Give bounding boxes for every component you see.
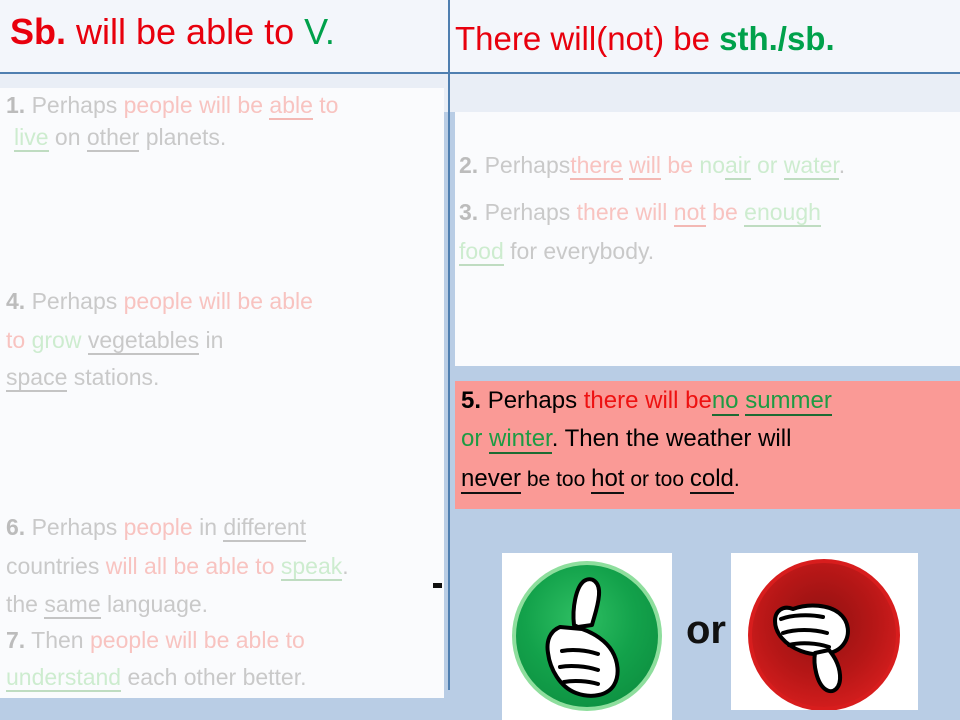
blank-answer: food: [459, 238, 504, 266]
text-run: .: [734, 468, 740, 491]
text-run: Perhaps: [485, 199, 577, 225]
header-left-bold: Sb.: [10, 11, 66, 52]
right-content-panel: 2. Perhapsthere will be noair or water. …: [455, 112, 960, 366]
right-item-2-line-1: 2. Perhapsthere will be noair or water.: [459, 154, 960, 177]
left-content-panel: 1. Perhaps people will be able to live o…: [0, 88, 444, 698]
thumbs-down-icon: [731, 553, 918, 710]
blank-answer: different: [223, 514, 306, 542]
text-run: Perhaps: [488, 387, 584, 414]
or-label: or: [686, 610, 726, 650]
text-run: people will be able: [124, 288, 313, 314]
text-run: language.: [101, 591, 208, 617]
left-item-1-line-1-runs: Perhaps people will be able to: [32, 92, 339, 120]
text-run: there will: [577, 199, 674, 225]
highlight-box-item-5: 5. Perhaps there will beno summer or win…: [455, 381, 960, 509]
left-item-7-line-1-runs: Then people will be able to: [31, 627, 305, 653]
text-run: each other better.: [121, 664, 306, 690]
text-run: be: [661, 152, 699, 178]
blank-answer: will: [629, 152, 661, 180]
highlight-line-3-runs: never be too hot or too cold.: [461, 465, 740, 492]
blank-answer: able: [269, 92, 312, 120]
left-item-6-line-3: the same language.: [6, 593, 444, 616]
text-run: be too: [521, 468, 591, 491]
text-run: in: [193, 514, 224, 540]
highlight-line-1: 5. Perhaps there will beno summer: [461, 389, 960, 413]
blank-answer: never: [461, 465, 521, 494]
text-run: Perhaps: [485, 152, 571, 178]
right-item-2-line-1-runs: Perhapsthere will be noair or water.: [485, 152, 846, 180]
text-run: .: [342, 553, 348, 579]
text-run: in: [199, 327, 223, 353]
blank-answer: enough: [744, 199, 821, 227]
left-item-6-line-1: 6. Perhaps people in different: [6, 516, 444, 539]
text-run: or: [461, 425, 489, 452]
thumbs-up-image: [502, 553, 672, 720]
blank-answer: speak: [281, 553, 342, 581]
left-item-4-line-1: 4. Perhaps people will be able: [6, 290, 444, 313]
blank-answer: there: [570, 152, 622, 180]
right-item-3-number: 3.: [459, 199, 478, 225]
highlight-line-2: or winter. Then the weather will: [461, 427, 960, 451]
text-run: to: [6, 327, 32, 353]
highlight-line-3: never be too hot or too cold.: [461, 467, 960, 491]
header-left-mid: will be able to: [66, 11, 304, 52]
thumbs-down-image: [731, 553, 918, 710]
left-item-1-line-2: live on other planets.: [14, 126, 452, 149]
blank-answer: live: [14, 124, 49, 152]
left-item-6-line-3-runs: the same language.: [6, 591, 208, 619]
header-title-left: Sb. will be able to V.: [10, 14, 446, 50]
highlight-line-2-runs: or winter. Then the weather will: [461, 425, 791, 454]
blank-answer: other: [87, 124, 139, 152]
blank-answer: air: [725, 152, 751, 180]
text-run: be: [706, 199, 744, 225]
text-run: or: [751, 152, 784, 178]
vertical-divider: [448, 0, 450, 690]
slide-canvas: Sb. will be able to V. There will(not) b…: [0, 0, 960, 720]
blank-answer: space: [6, 364, 67, 392]
text-run: for everybody.: [504, 238, 654, 264]
blank-answer: hot: [591, 465, 624, 494]
left-item-4-line-3-runs: space stations.: [6, 364, 159, 392]
left-item-7-number: 7.: [6, 627, 25, 653]
text-run: to: [313, 92, 339, 118]
text-run: .: [839, 152, 845, 178]
text-run: no: [699, 152, 725, 178]
left-item-7-line-1: 7. Then people will be able to: [6, 629, 444, 652]
text-run: . Then the weather will: [552, 425, 792, 452]
text-run: Perhaps: [32, 92, 124, 118]
blank-answer: vegetables: [88, 327, 199, 355]
text-run: there will be: [584, 387, 712, 414]
left-item-4-line-1-runs: Perhaps people will be able: [32, 288, 313, 314]
text-run: Perhaps: [32, 514, 124, 540]
thumbs-up-icon: [502, 553, 672, 720]
text-run: people will be able to: [90, 627, 305, 653]
left-item-1-line-2-runs: live on other planets.: [14, 124, 226, 152]
text-run: countries: [6, 553, 106, 579]
right-item-3-line-2: food for everybody.: [459, 240, 960, 263]
left-item-4-line-2: to grow vegetables in: [6, 329, 444, 352]
text-run: or too: [624, 468, 689, 491]
left-item-6-line-2-runs: countries will all be able to speak.: [6, 553, 349, 581]
text-run: stations.: [67, 364, 159, 390]
header-title-right: There will(not) be sth./sb.: [455, 22, 960, 55]
left-item-6-line-2: countries will all be able to speak.: [6, 555, 444, 578]
header-left-green: V.: [304, 11, 335, 52]
blank-answer: same: [44, 591, 100, 619]
blank-answer: no: [712, 387, 739, 416]
left-item-4-line-3: space stations.: [6, 366, 444, 389]
blank-answer: not: [674, 199, 706, 227]
left-item-4-number: 4.: [6, 288, 25, 314]
text-run: grow: [32, 327, 88, 353]
right-item-3-line-1: 3. Perhaps there will not be enough: [459, 201, 960, 224]
text-run: the: [6, 591, 44, 617]
text-run: planets.: [139, 124, 226, 150]
right-item-3-line-1-runs: Perhaps there will not be enough: [485, 199, 821, 227]
text-run: people will be: [124, 92, 270, 118]
left-item-1-line-1: 1. Perhaps people will be able to: [6, 94, 444, 117]
blank-answer: water: [784, 152, 839, 180]
blank-answer: understand: [6, 664, 121, 692]
text-run: Then: [31, 627, 90, 653]
blank-answer: winter: [489, 425, 552, 454]
right-item-3-line-2-runs: food for everybody.: [459, 238, 654, 266]
left-item-4-line-2-runs: to grow vegetables in: [6, 327, 223, 355]
text-run: people: [124, 514, 193, 540]
text-run: will all be able to: [106, 553, 281, 579]
blank-answer: summer: [745, 387, 832, 416]
highlight-line-1-runs: Perhaps there will beno summer: [488, 387, 832, 416]
right-item-2-number: 2.: [459, 152, 478, 178]
left-item-7-line-2: understand each other better.: [6, 666, 444, 689]
header-right-red: There will(not) be: [455, 20, 719, 57]
selection-handle-icon[interactable]: [433, 583, 442, 588]
text-run: Perhaps: [32, 288, 124, 314]
left-item-6-line-1-runs: Perhaps people in different: [32, 514, 307, 542]
left-item-1-number: 1.: [6, 92, 25, 118]
highlight-number: 5.: [461, 387, 481, 414]
header-right-green: sth./sb.: [719, 20, 835, 57]
blank-answer: cold: [690, 465, 734, 494]
left-item-6-number: 6.: [6, 514, 25, 540]
text-run: on: [49, 124, 87, 150]
left-item-7-line-2-runs: understand each other better.: [6, 664, 307, 692]
